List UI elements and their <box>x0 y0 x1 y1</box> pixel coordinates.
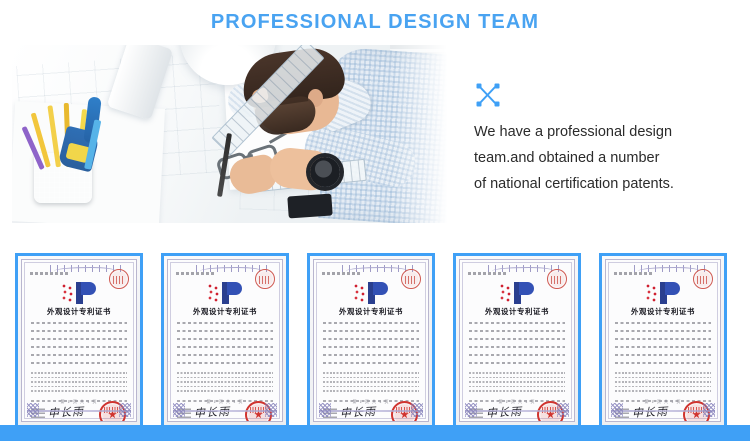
ornament-base-rule <box>27 410 131 412</box>
ornament-bottom-right <box>557 403 569 417</box>
ornament-bottom-right <box>265 403 277 417</box>
ornament-top <box>48 265 122 272</box>
small-seal-icon <box>255 269 275 289</box>
logo-dots <box>354 284 368 302</box>
ornament-bottom-left <box>319 403 331 417</box>
cnipa-logo <box>62 282 96 304</box>
certificate-footer: 第 1 页 共 1 页 <box>314 399 428 405</box>
ornament-top <box>632 265 706 272</box>
certificate-card-1[interactable]: 外观设计专利证书 申长雨 第 1 页 <box>15 253 143 428</box>
ornament-bottom-left <box>465 403 477 417</box>
ruler-pencil-icon <box>474 82 502 108</box>
certificate-fields <box>469 322 565 370</box>
ornament-base-rule <box>173 410 277 412</box>
product-detail-banner: PROFESSIONAL DESIGN TEAM <box>0 0 750 441</box>
cnipa-logo <box>354 282 388 304</box>
certificate-footer: 第 1 页 共 1 页 <box>460 399 574 405</box>
signature-name: 申长雨 <box>340 403 377 421</box>
field-line <box>31 362 127 364</box>
certificate-paragraph <box>177 372 273 395</box>
signature-name: 申长雨 <box>632 403 669 421</box>
certificate-page: 外观设计专利证书 申长雨 第 1 页 <box>21 259 137 422</box>
logo-p-mark <box>660 282 680 304</box>
certificate-mat: 外观设计专利证书 申长雨 第 1 页 共 1 页 <box>602 256 724 425</box>
certificate-mat: 外观设计专利证书 申长雨 第 1 页 共 1 页 <box>164 256 286 425</box>
certificate-number <box>30 272 70 275</box>
page-title: PROFESSIONAL DESIGN TEAM <box>0 11 750 34</box>
certificate-title: 外观设计专利证书 <box>22 306 136 317</box>
certificate-mat: 外观设计专利证书 申长雨 第 1 页 共 1 页 <box>310 256 432 425</box>
field-line <box>31 338 127 340</box>
logo-dots <box>646 284 660 302</box>
signature-name: 申长雨 <box>486 403 523 421</box>
certificate-title: 外观设计专利证书 <box>314 306 428 317</box>
certificate-page: 外观设计专利证书 申长雨 第 1 页 共 1 页 <box>459 259 575 422</box>
hero-line-1: We have a professional design <box>474 119 736 145</box>
ornament-top <box>340 265 414 272</box>
certificate-fields <box>323 322 419 370</box>
ornament-bottom-left <box>611 403 623 417</box>
small-seal-icon <box>693 269 713 289</box>
certificate-card-4[interactable]: 外观设计专利证书 申长雨 第 1 页 共 1 页 <box>453 253 581 428</box>
field-line <box>31 346 127 348</box>
photo-fade-overlay <box>392 45 452 223</box>
certificate-card-5[interactable]: 外观设计专利证书 申长雨 第 1 页 共 1 页 <box>599 253 727 428</box>
logo-p-mark <box>222 282 242 304</box>
hero-section: We have a professional design team.and o… <box>0 45 750 223</box>
ornament-top <box>194 265 268 272</box>
certificate-title: 外观设计专利证书 <box>606 306 720 317</box>
logo-p-mark <box>76 282 96 304</box>
signature-name: 申长雨 <box>194 403 231 421</box>
certificate-title: 外观设计专利证书 <box>460 306 574 317</box>
hero-text-block: We have a professional design team.and o… <box>474 45 736 223</box>
certificate-page: 外观设计专利证书 申长雨 第 1 页 共 1 页 <box>313 259 429 422</box>
smartphone <box>287 193 332 218</box>
field-line <box>31 354 127 356</box>
certificate-fields <box>31 322 127 370</box>
wristwatch <box>310 157 340 187</box>
logo-p-mark <box>368 282 388 304</box>
hero-line-2: team.and obtained a number <box>474 145 736 171</box>
certificate-card-3[interactable]: 外观设计专利证书 申长雨 第 1 页 共 1 页 <box>307 253 435 428</box>
cnipa-logo <box>500 282 534 304</box>
certificate-number <box>322 272 362 275</box>
ornament-base-rule <box>611 410 715 412</box>
ornament-top <box>486 265 560 272</box>
logo-p-mark <box>514 282 534 304</box>
certificate-paragraph <box>323 372 419 395</box>
certificate-mat: 外观设计专利证书 申长雨 第 1 页 <box>18 256 140 425</box>
logo-dots <box>500 284 514 302</box>
certificate-paragraph <box>615 372 711 395</box>
hero-paragraph: We have a professional design team.and o… <box>474 119 736 197</box>
hero-line-3: of national certification patents. <box>474 171 736 197</box>
certificate-title: 外观设计专利证书 <box>168 306 282 317</box>
small-seal-icon <box>547 269 567 289</box>
certificate-page: 外观设计专利证书 申长雨 第 1 页 共 1 页 <box>605 259 721 422</box>
certificate-page: 外观设计专利证书 申长雨 第 1 页 共 1 页 <box>167 259 283 422</box>
certificate-footer: 第 1 页 共 1 页 <box>22 399 136 405</box>
certificate-paragraph <box>469 372 565 395</box>
ornament-bottom-right <box>411 403 423 417</box>
small-seal-icon <box>401 269 421 289</box>
signature-name: 申长雨 <box>48 403 85 421</box>
certificate-paragraph <box>31 372 127 395</box>
logo-dots <box>208 284 222 302</box>
logo-dots <box>62 284 76 302</box>
certificate-fields <box>615 322 711 370</box>
design-team-photo <box>12 45 452 223</box>
field-line <box>31 322 127 324</box>
ornament-bottom-right <box>119 403 131 417</box>
ornament-bottom-left <box>27 403 39 417</box>
certificate-mat: 外观设计专利证书 申长雨 第 1 页 共 1 页 <box>456 256 578 425</box>
certificate-number <box>176 272 216 275</box>
certificate-number <box>468 272 508 275</box>
certificate-fields <box>177 322 273 370</box>
certificate-number <box>614 272 654 275</box>
certificate-card-2[interactable]: 外观设计专利证书 申长雨 第 1 页 共 1 页 <box>161 253 289 428</box>
ornament-bottom-right <box>703 403 715 417</box>
cnipa-logo <box>646 282 680 304</box>
ornament-base-rule <box>465 410 569 412</box>
field-line <box>31 330 127 332</box>
cnipa-logo <box>208 282 242 304</box>
certificate-footer: 第 1 页 共 1 页 <box>606 399 720 405</box>
small-seal-icon <box>109 269 129 289</box>
certificate-footer: 第 1 页 共 1 页 <box>168 399 282 405</box>
ornament-base-rule <box>319 410 423 412</box>
certificate-gallery: 外观设计专利证书 申长雨 第 1 页 <box>0 253 750 428</box>
ornament-bottom-left <box>173 403 185 417</box>
